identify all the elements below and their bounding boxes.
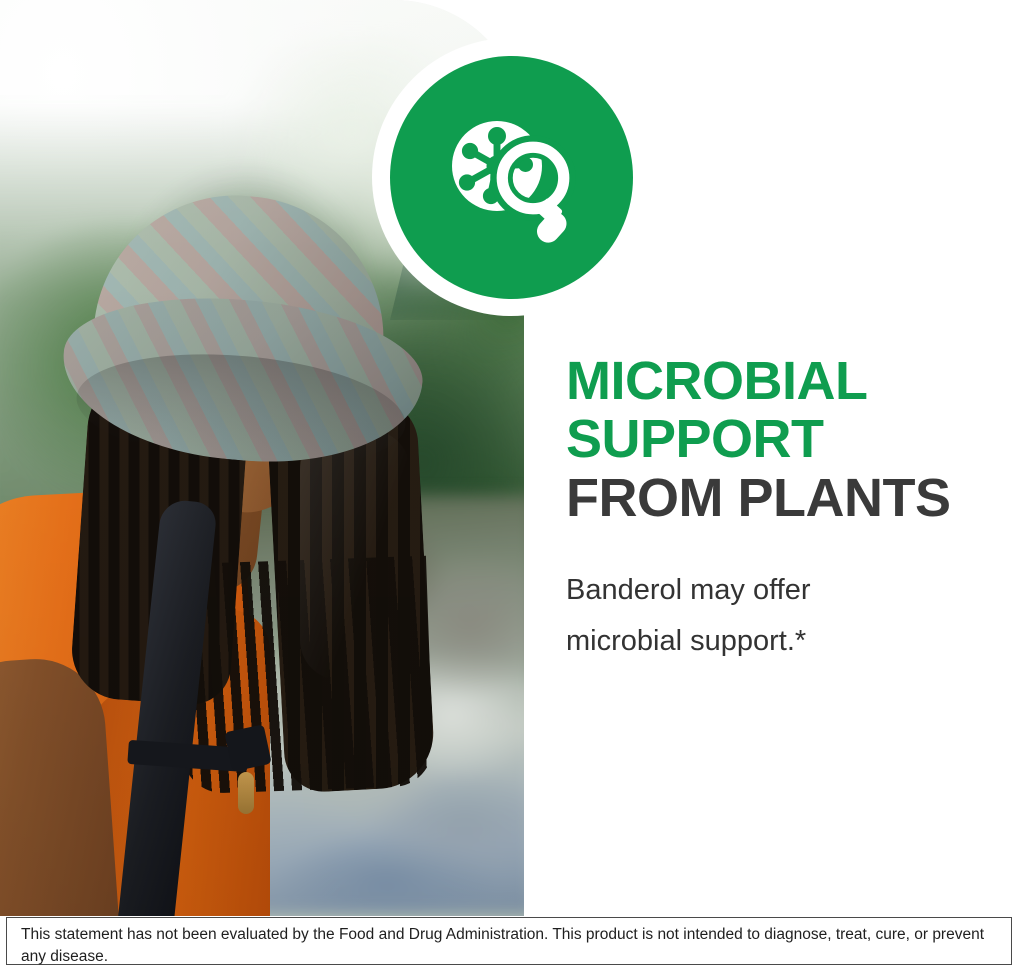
- microbe-magnifier-icon: [437, 103, 587, 253]
- headline-line-2: SUPPORT: [566, 410, 1010, 468]
- headline-line-3: FROM PLANTS: [566, 469, 1010, 527]
- fda-disclaimer: This statement has not been evaluated by…: [6, 917, 1012, 965]
- strap-tab: [224, 724, 271, 771]
- headline: MICROBIAL SUPPORT FROM PLANTS: [566, 352, 1010, 527]
- headline-line-1: MICROBIAL: [566, 352, 1010, 410]
- product-benefit-banner: MICROBIAL SUPPORT FROM PLANTS Banderol m…: [0, 0, 1024, 973]
- pendant: [238, 772, 254, 814]
- copy-block: MICROBIAL SUPPORT FROM PLANTS Banderol m…: [566, 352, 1010, 666]
- subcopy: Banderol may offer microbial support.*: [566, 565, 896, 667]
- benefit-badge: [390, 56, 633, 299]
- locs-highlight: [300, 430, 410, 680]
